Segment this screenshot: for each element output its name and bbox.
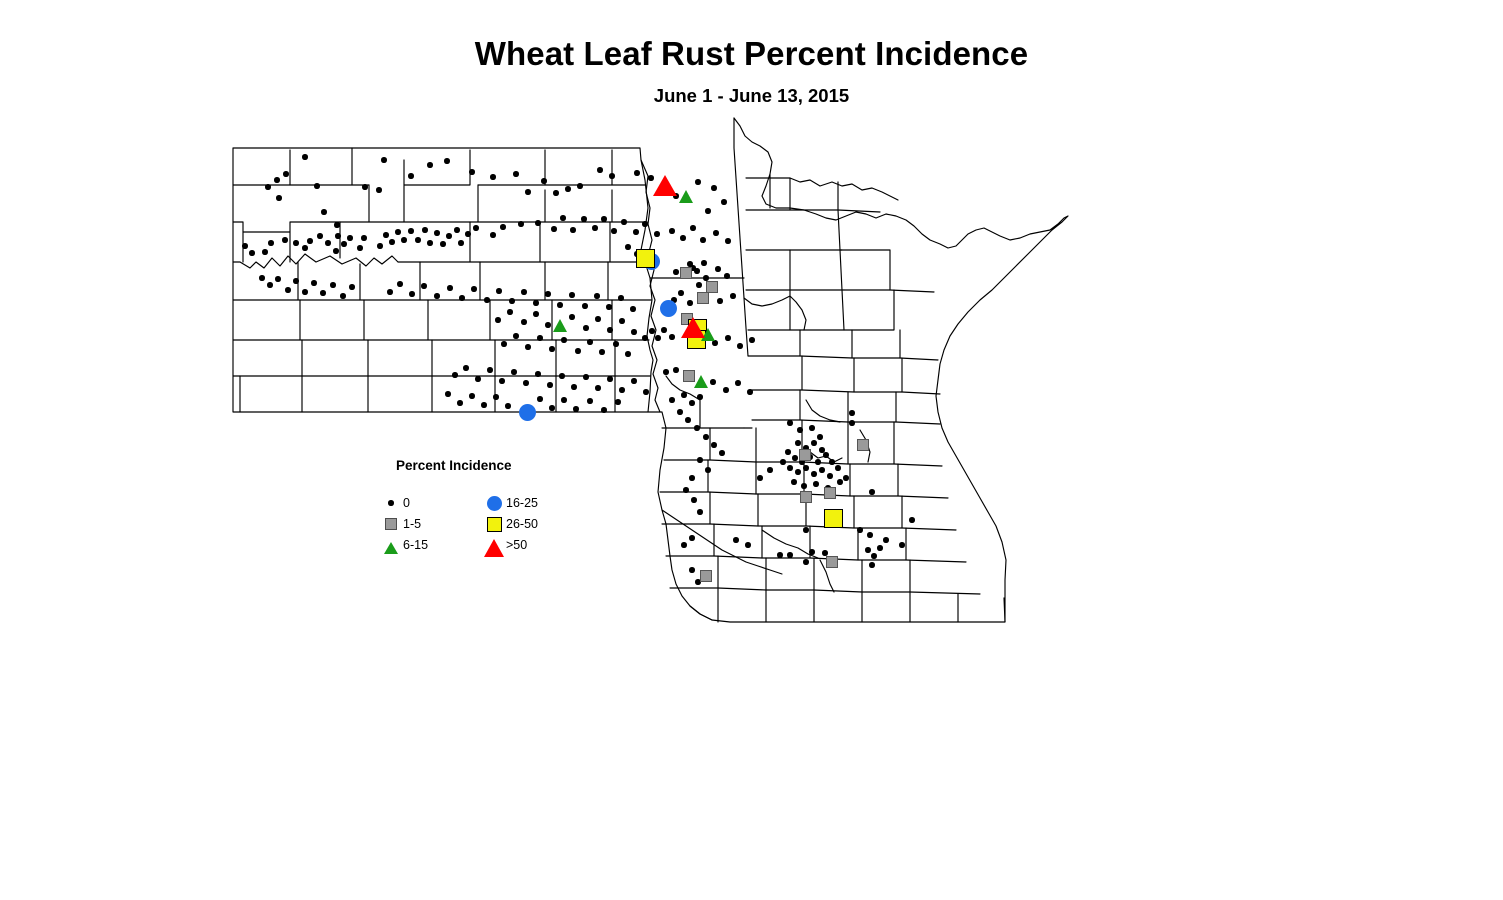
marker-0 xyxy=(767,467,772,472)
marker-0 xyxy=(595,316,600,321)
marker-0 xyxy=(780,459,785,464)
marker-0 xyxy=(551,226,556,231)
marker-0 xyxy=(265,184,270,189)
marker-0 xyxy=(427,162,432,167)
marker-0 xyxy=(582,303,587,308)
marker-0 xyxy=(733,537,738,542)
legend-swatch xyxy=(385,518,397,530)
marker-1to5 xyxy=(857,439,870,452)
marker-0 xyxy=(507,309,512,314)
legend-swatch xyxy=(388,500,393,505)
marker-0 xyxy=(499,378,504,383)
marker-0 xyxy=(615,399,620,404)
marker-0 xyxy=(607,376,612,381)
marker-0 xyxy=(561,337,566,342)
legend-green-triangle-icon xyxy=(381,535,401,555)
marker-0 xyxy=(445,391,450,396)
marker-0 xyxy=(446,233,451,238)
marker-0 xyxy=(276,195,281,200)
marker-0 xyxy=(325,240,330,245)
marker-0 xyxy=(711,442,716,447)
marker-0 xyxy=(711,185,716,190)
marker-0 xyxy=(595,385,600,390)
legend-entry-label: 26-50 xyxy=(506,516,538,532)
legend-entry-label: 0 xyxy=(403,495,410,511)
marker-0 xyxy=(314,183,319,188)
marker-0 xyxy=(669,397,674,402)
marker-0 xyxy=(869,562,874,567)
marker-0 xyxy=(457,400,462,405)
marker-0 xyxy=(487,367,492,372)
map-page: Wheat Leaf Rust Percent Incidence June 1… xyxy=(0,0,1503,900)
marker-0 xyxy=(673,269,678,274)
marker-0 xyxy=(792,455,797,460)
marker-0 xyxy=(787,465,792,470)
marker-0 xyxy=(249,250,254,255)
marker-0 xyxy=(376,187,381,192)
marker-0 xyxy=(633,229,638,234)
marker-0 xyxy=(490,232,495,237)
marker-0 xyxy=(444,158,449,163)
marker-0 xyxy=(697,394,702,399)
marker-0 xyxy=(609,173,614,178)
marker-0 xyxy=(683,487,688,492)
marker-0 xyxy=(837,479,842,484)
marker-0 xyxy=(661,327,666,332)
marker-0 xyxy=(745,542,750,547)
marker-0 xyxy=(317,233,322,238)
marker-0 xyxy=(471,286,476,291)
marker-0 xyxy=(634,170,639,175)
marker-1to5 xyxy=(800,491,813,504)
marker-0 xyxy=(495,317,500,322)
marker-0 xyxy=(293,240,298,245)
marker-0 xyxy=(909,517,914,522)
marker-0 xyxy=(259,275,264,280)
marker-0 xyxy=(262,249,267,254)
legend-small-black-dot-icon xyxy=(381,493,401,513)
marker-0 xyxy=(689,567,694,572)
marker-0 xyxy=(849,410,854,415)
marker-0 xyxy=(690,225,695,230)
marker-0 xyxy=(452,372,457,377)
marker-gt50 xyxy=(681,314,705,338)
legend-entry-gt50[interactable]: >50 xyxy=(484,535,579,555)
marker-0 xyxy=(463,365,468,370)
marker-0 xyxy=(642,335,647,340)
legend-swatch xyxy=(487,517,502,532)
marker-0 xyxy=(541,178,546,183)
marker-0 xyxy=(347,235,352,240)
marker-0 xyxy=(422,227,427,232)
marker-0 xyxy=(787,420,792,425)
marker-0 xyxy=(275,276,280,281)
marker-0 xyxy=(669,334,674,339)
marker-0 xyxy=(513,171,518,176)
marker-0 xyxy=(397,281,402,286)
marker-0 xyxy=(655,335,660,340)
marker-0 xyxy=(849,420,854,425)
marker-0 xyxy=(681,542,686,547)
legend-entry-26-50[interactable]: 26-50 xyxy=(484,514,579,534)
marker-0 xyxy=(333,248,338,253)
marker-0 xyxy=(625,351,630,356)
marker-0 xyxy=(570,227,575,232)
marker-0 xyxy=(700,237,705,242)
marker-0 xyxy=(571,384,576,389)
marker-0 xyxy=(701,260,706,265)
marker-0 xyxy=(569,314,574,319)
marker-1to5 xyxy=(697,292,710,305)
marker-0 xyxy=(815,459,820,464)
marker-0 xyxy=(703,434,708,439)
marker-0 xyxy=(737,343,742,348)
marker-0 xyxy=(587,398,592,403)
marker-0 xyxy=(242,243,247,248)
marker-0 xyxy=(307,238,312,243)
legend-yellow-square-icon xyxy=(484,514,504,534)
marker-0 xyxy=(283,171,288,176)
marker-0 xyxy=(561,397,566,402)
marker-0 xyxy=(835,465,840,470)
marker-0 xyxy=(389,239,394,244)
marker-0 xyxy=(447,285,452,290)
legend-swatch xyxy=(384,539,398,554)
marker-0 xyxy=(293,278,298,283)
marker-0 xyxy=(501,341,506,346)
legend-entry-label: >50 xyxy=(506,537,527,553)
marker-0 xyxy=(535,371,540,376)
marker-0 xyxy=(757,475,762,480)
marker-0 xyxy=(611,228,616,233)
marker-0 xyxy=(573,406,578,411)
marker-0 xyxy=(689,475,694,480)
marker-1to5 xyxy=(700,570,713,583)
marker-0 xyxy=(717,298,722,303)
marker-0 xyxy=(509,298,514,303)
marker-0 xyxy=(777,552,782,557)
marker-0 xyxy=(625,244,630,249)
marker-0 xyxy=(643,389,648,394)
marker-0 xyxy=(697,509,702,514)
marker-16to25 xyxy=(519,404,536,421)
marker-gt50 xyxy=(653,172,677,196)
marker-1to5 xyxy=(824,487,837,500)
marker-0 xyxy=(553,190,558,195)
marker-0 xyxy=(513,333,518,338)
marker-0 xyxy=(687,300,692,305)
marker-0 xyxy=(685,417,690,422)
marker-0 xyxy=(695,179,700,184)
marker-0 xyxy=(525,189,530,194)
marker-0 xyxy=(791,479,796,484)
marker-0 xyxy=(705,467,710,472)
marker-0 xyxy=(857,527,862,532)
marker-0 xyxy=(809,425,814,430)
marker-0 xyxy=(803,559,808,564)
marker-0 xyxy=(302,289,307,294)
legend-blue-circle-icon xyxy=(484,493,504,513)
marker-0 xyxy=(505,403,510,408)
legend-gray-square-icon xyxy=(381,514,401,534)
marker-0 xyxy=(869,489,874,494)
marker-0 xyxy=(525,344,530,349)
marker-0 xyxy=(334,222,339,227)
marker-0 xyxy=(747,389,752,394)
marker-0 xyxy=(803,465,808,470)
marker-0 xyxy=(871,553,876,558)
marker-0 xyxy=(787,552,792,557)
marker-0 xyxy=(795,440,800,445)
state-county-boundaries xyxy=(0,0,1503,900)
marker-0 xyxy=(387,289,392,294)
marker-0 xyxy=(797,427,802,432)
marker-0 xyxy=(592,225,597,230)
marker-0 xyxy=(843,475,848,480)
marker-0 xyxy=(785,449,790,454)
marker-0 xyxy=(335,233,340,238)
marker-0 xyxy=(597,167,602,172)
marker-0 xyxy=(469,169,474,174)
marker-0 xyxy=(490,174,495,179)
marker-0 xyxy=(587,339,592,344)
marker-0 xyxy=(565,186,570,191)
marker-0 xyxy=(569,292,574,297)
marker-0 xyxy=(606,304,611,309)
marker-0 xyxy=(694,425,699,430)
marker-0 xyxy=(560,215,565,220)
marker-0 xyxy=(581,216,586,221)
marker-6to15 xyxy=(679,187,693,203)
marker-0 xyxy=(454,227,459,232)
marker-0 xyxy=(557,302,562,307)
legend-entry-label: 1-5 xyxy=(403,516,421,532)
marker-0 xyxy=(599,349,604,354)
marker-0 xyxy=(267,282,272,287)
marker-0 xyxy=(669,228,674,233)
marker-0 xyxy=(518,221,523,226)
marker-0 xyxy=(899,542,904,547)
marker-0 xyxy=(811,471,816,476)
marker-0 xyxy=(689,400,694,405)
marker-0 xyxy=(795,469,800,474)
marker-0 xyxy=(730,293,735,298)
marker-0 xyxy=(680,235,685,240)
marker-0 xyxy=(883,537,888,542)
marker-0 xyxy=(819,467,824,472)
marker-0 xyxy=(537,396,542,401)
marker-0 xyxy=(421,283,426,288)
marker-0 xyxy=(311,280,316,285)
marker-26to50 xyxy=(636,249,655,268)
marker-0 xyxy=(340,293,345,298)
marker-0 xyxy=(285,287,290,292)
marker-0 xyxy=(631,329,636,334)
marker-0 xyxy=(749,337,754,342)
marker-0 xyxy=(705,208,710,213)
marker-0 xyxy=(500,224,505,229)
marker-0 xyxy=(533,300,538,305)
marker-0 xyxy=(823,452,828,457)
marker-0 xyxy=(434,293,439,298)
legend-title: Percent Incidence xyxy=(396,458,512,473)
marker-0 xyxy=(533,311,538,316)
marker-0 xyxy=(521,289,526,294)
marker-0 xyxy=(409,291,414,296)
map-canvas xyxy=(0,0,1503,900)
marker-0 xyxy=(408,173,413,178)
marker-1to5 xyxy=(826,556,839,569)
marker-0 xyxy=(496,288,501,293)
marker-0 xyxy=(621,219,626,224)
marker-0 xyxy=(330,282,335,287)
marker-0 xyxy=(601,216,606,221)
marker-0 xyxy=(475,376,480,381)
marker-0 xyxy=(408,228,413,233)
marker-0 xyxy=(473,225,478,230)
marker-0 xyxy=(535,220,540,225)
marker-0 xyxy=(697,457,702,462)
marker-0 xyxy=(274,177,279,182)
marker-6to15 xyxy=(553,316,567,332)
marker-0 xyxy=(341,241,346,246)
marker-0 xyxy=(349,284,354,289)
marker-0 xyxy=(481,402,486,407)
marker-0 xyxy=(689,535,694,540)
marker-0 xyxy=(521,319,526,324)
marker-0 xyxy=(583,325,588,330)
marker-0 xyxy=(575,348,580,353)
marker-0 xyxy=(713,230,718,235)
marker-0 xyxy=(715,266,720,271)
legend-entry-6-15[interactable]: 6-15 xyxy=(381,535,476,555)
marker-0 xyxy=(613,341,618,346)
marker-0 xyxy=(523,380,528,385)
marker-16to25 xyxy=(660,300,677,317)
legend-swatch xyxy=(487,496,502,511)
marker-0 xyxy=(817,434,822,439)
marker-0 xyxy=(559,373,564,378)
marker-0 xyxy=(642,221,647,226)
marker-0 xyxy=(829,459,834,464)
legend-entry-label: 6-15 xyxy=(403,537,428,553)
marker-0 xyxy=(547,382,552,387)
legend-swatch xyxy=(484,536,504,557)
marker-0 xyxy=(618,295,623,300)
marker-0 xyxy=(663,369,668,374)
marker-0 xyxy=(801,483,806,488)
marker-0 xyxy=(427,240,432,245)
marker-0 xyxy=(724,273,729,278)
marker-0 xyxy=(619,387,624,392)
marker-0 xyxy=(619,318,624,323)
marker-0 xyxy=(549,346,554,351)
marker-0 xyxy=(725,335,730,340)
marker-6to15 xyxy=(694,372,708,388)
marker-0 xyxy=(865,547,870,552)
marker-0 xyxy=(395,229,400,234)
marker-0 xyxy=(813,481,818,486)
marker-0 xyxy=(268,240,273,245)
marker-0 xyxy=(654,231,659,236)
marker-0 xyxy=(465,231,470,236)
marker-0 xyxy=(545,322,550,327)
marker-0 xyxy=(696,282,701,287)
marker-0 xyxy=(811,440,816,445)
legend-entry-0[interactable]: 0 xyxy=(381,493,476,513)
marker-0 xyxy=(469,393,474,398)
marker-26to50 xyxy=(824,509,843,528)
marker-0 xyxy=(381,157,386,162)
marker-0 xyxy=(725,238,730,243)
legend-red-triangle-icon xyxy=(484,535,504,555)
marker-0 xyxy=(803,527,808,532)
marker-0 xyxy=(549,405,554,410)
marker-0 xyxy=(809,549,814,554)
marker-0 xyxy=(362,184,367,189)
marker-0 xyxy=(827,473,832,478)
marker-0 xyxy=(583,374,588,379)
marker-0 xyxy=(484,297,489,302)
marker-0 xyxy=(459,295,464,300)
marker-1to5 xyxy=(680,267,693,280)
marker-0 xyxy=(401,237,406,242)
marker-0 xyxy=(877,545,882,550)
marker-0 xyxy=(681,392,686,397)
marker-0 xyxy=(723,387,728,392)
marker-0 xyxy=(282,237,287,242)
marker-0 xyxy=(631,378,636,383)
marker-0 xyxy=(321,209,326,214)
marker-0 xyxy=(577,183,582,188)
marker-0 xyxy=(691,497,696,502)
marker-0 xyxy=(710,379,715,384)
marker-0 xyxy=(607,327,612,332)
marker-0 xyxy=(673,367,678,372)
marker-1to5 xyxy=(799,449,812,462)
marker-0 xyxy=(511,369,516,374)
marker-0 xyxy=(594,293,599,298)
marker-0 xyxy=(735,380,740,385)
marker-0 xyxy=(320,290,325,295)
legend-entry-label: 16-25 xyxy=(506,495,538,511)
marker-0 xyxy=(458,240,463,245)
marker-0 xyxy=(302,154,307,159)
marker-0 xyxy=(440,241,445,246)
legend: Percent Incidence 01-56-1516-2526-50>50 xyxy=(381,458,581,568)
marker-0 xyxy=(357,245,362,250)
marker-0 xyxy=(721,199,726,204)
marker-0 xyxy=(867,532,872,537)
marker-0 xyxy=(361,235,366,240)
marker-0 xyxy=(434,230,439,235)
marker-0 xyxy=(678,290,683,295)
marker-0 xyxy=(493,394,498,399)
marker-0 xyxy=(545,291,550,296)
marker-0 xyxy=(302,245,307,250)
marker-0 xyxy=(601,407,606,412)
marker-0 xyxy=(719,450,724,455)
legend-entry-1-5[interactable]: 1-5 xyxy=(381,514,476,534)
marker-0 xyxy=(649,328,654,333)
marker-0 xyxy=(377,243,382,248)
marker-0 xyxy=(415,237,420,242)
marker-0 xyxy=(537,335,542,340)
marker-0 xyxy=(383,232,388,237)
marker-0 xyxy=(677,409,682,414)
marker-0 xyxy=(630,306,635,311)
legend-entry-16-25[interactable]: 16-25 xyxy=(484,493,579,513)
